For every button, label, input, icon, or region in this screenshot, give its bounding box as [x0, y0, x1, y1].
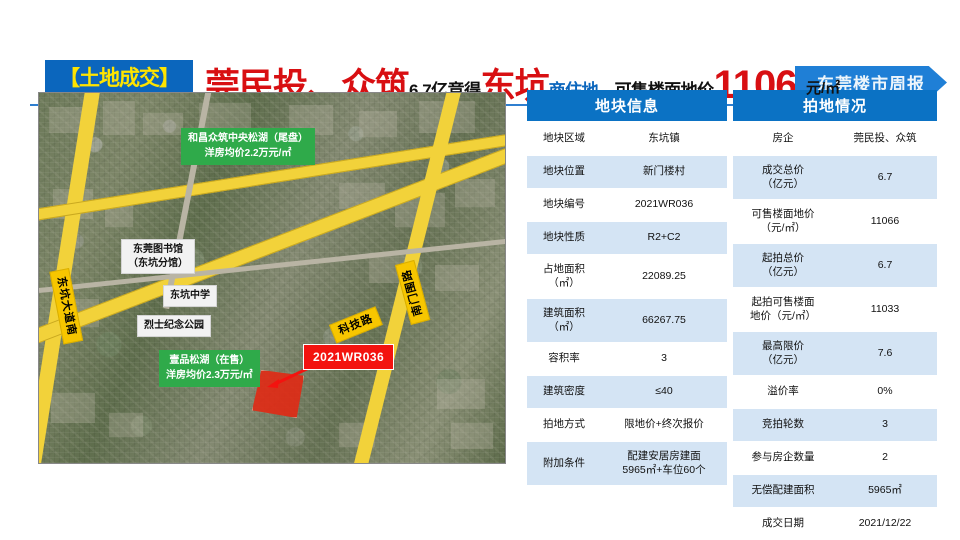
auction-row-value: 2	[833, 442, 937, 475]
project-label-yipin: 壹品松湖（在售） 洋房均价2.3万元/㎡	[159, 350, 260, 387]
poi-label-middle-school: 东坑中学	[163, 285, 217, 307]
table-row: 地块编号2021WR036	[527, 189, 727, 222]
auction-row-value: 6.7	[833, 244, 937, 288]
land-row-key: 占地面积（㎡）	[527, 255, 601, 299]
table-body: 地块区域东坑镇地块位置新门楼村地块编号2021WR036地块性质R2+C2占地面…	[527, 123, 937, 540]
table-row: 拍地方式限地价+终次报价	[527, 409, 727, 442]
land-row-key: 地块编号	[527, 189, 601, 222]
table-row: 建筑面积（㎡）66267.75	[527, 299, 727, 343]
table-row: 最高限价（亿元）7.6	[733, 332, 937, 376]
land-row-value: 新门楼村	[601, 156, 727, 189]
land-row-value: 3	[601, 343, 727, 376]
land-row-value: 配建安居房建面5965㎡+车位60个	[601, 442, 727, 486]
land-row-value: 66267.75	[601, 299, 727, 343]
auction-row-key: 参与房企数量	[733, 442, 833, 475]
slide-root: 【土地成交】 莞民投、众筑 6.7亿竞得 东坑 商住地 ，可售楼面地价 1106…	[0, 0, 960, 540]
auction-row-key: 成交总价（亿元）	[733, 156, 833, 200]
land-row-key: 附加条件	[527, 442, 601, 486]
table-row: 成交总价（亿元）6.7	[733, 156, 937, 200]
auction-row-key: 房企	[733, 123, 833, 156]
auction-row-value: 11066	[833, 200, 937, 244]
land-row-value: 22089.25	[601, 255, 727, 299]
table-row: 参与房企数量2	[733, 442, 937, 475]
land-row-value: ≤40	[601, 376, 727, 409]
auction-row-key: 最高限价（亿元）	[733, 332, 833, 376]
auction-row-value: 莞民投、众筑	[833, 123, 937, 156]
table-row: 地块区域东坑镇	[527, 123, 727, 156]
land-row-key: 建筑面积（㎡）	[527, 299, 601, 343]
poi-label-martyrs-park: 烈士纪念公园	[137, 315, 211, 337]
project-label-yipin-line1: 壹品松湖（在售）	[169, 355, 249, 366]
satellite-map[interactable]: 2021WR036 东坑大道南 科技路 南门围路 和昌众筑中央松湖（尾盘） 洋房…	[38, 92, 506, 464]
table-header-row: 地块信息 拍地情况	[527, 90, 937, 121]
auction-row-key: 起拍可售楼面地价（元/㎡）	[733, 288, 833, 332]
table-header-land-info: 地块信息	[527, 90, 727, 121]
auction-row-key: 可售楼面地价（元/㎡）	[733, 200, 833, 244]
auction-row-value: 0%	[833, 376, 937, 409]
auction-row-key: 溢价率	[733, 376, 833, 409]
project-label-yipin-line2: 洋房均价2.3万元/㎡	[166, 370, 253, 381]
table-row: 房企莞民投、众筑	[733, 123, 937, 156]
table-column-land-info: 地块区域东坑镇地块位置新门楼村地块编号2021WR036地块性质R2+C2占地面…	[527, 123, 727, 540]
project-label-hechang-line2: 洋房均价2.2万元/㎡	[205, 148, 292, 159]
auction-row-value: 11033	[833, 288, 937, 332]
table-row: 起拍可售楼面地价（元/㎡）11033	[733, 288, 937, 332]
parcel-id-callout: 2021WR036	[303, 344, 394, 370]
land-row-key: 容积率	[527, 343, 601, 376]
slide-header: 【土地成交】 莞民投、众筑 6.7亿竞得 东坑 商住地 ，可售楼面地价 1106…	[0, 22, 960, 84]
project-label-hechang: 和昌众筑中央松湖（尾盘） 洋房均价2.2万元/㎡	[181, 128, 315, 165]
auction-row-value: 6.7	[833, 156, 937, 200]
category-badge-label: 【土地成交】	[59, 68, 179, 89]
table-row: 起拍总价（亿元）6.7	[733, 244, 937, 288]
table-row: 容积率3	[527, 343, 727, 376]
poi-label-library-line2: （东坑分馆）	[128, 258, 188, 269]
table-row: 建筑密度≤40	[527, 376, 727, 409]
project-label-hechang-line1: 和昌众筑中央松湖（尾盘）	[188, 133, 308, 144]
table-row: 竞拍轮数3	[733, 409, 937, 442]
auction-row-value: 3	[833, 409, 937, 442]
land-row-key: 建筑密度	[527, 376, 601, 409]
poi-label-library: 东莞图书馆 （东坑分馆）	[121, 239, 195, 274]
auction-row-key: 起拍总价（亿元）	[733, 244, 833, 288]
table-row: 地块位置新门楼村	[527, 156, 727, 189]
land-row-value: 限地价+终次报价	[601, 409, 727, 442]
auction-row-value: 7.6	[833, 332, 937, 376]
land-row-key: 拍地方式	[527, 409, 601, 442]
land-row-key: 地块区域	[527, 123, 601, 156]
land-row-key: 地块位置	[527, 156, 601, 189]
table-column-auction-info: 房企莞民投、众筑成交总价（亿元）6.7可售楼面地价（元/㎡）11066起拍总价（…	[733, 123, 937, 540]
land-row-value: 东坑镇	[601, 123, 727, 156]
land-row-value: 2021WR036	[601, 189, 727, 222]
land-row-key: 地块性质	[527, 222, 601, 255]
table-row: 地块性质R2+C2	[527, 222, 727, 255]
table-row: 溢价率0%	[733, 376, 937, 409]
table-row: 可售楼面地价（元/㎡）11066	[733, 200, 937, 244]
category-badge: 【土地成交】	[45, 60, 193, 96]
table-row: 附加条件配建安居房建面5965㎡+车位60个	[527, 442, 727, 486]
auction-row-key: 竞拍轮数	[733, 409, 833, 442]
poi-label-library-line1: 东莞图书馆	[133, 244, 183, 255]
slide-footer: 合富研究院	[0, 485, 960, 540]
table-row: 占地面积（㎡）22089.25	[527, 255, 727, 299]
headline-unit-label: 元/㎡	[806, 77, 840, 98]
land-row-value: R2+C2	[601, 222, 727, 255]
land-auction-table: 地块信息 拍地情况 地块区域东坑镇地块位置新门楼村地块编号2021WR036地块…	[527, 90, 937, 540]
